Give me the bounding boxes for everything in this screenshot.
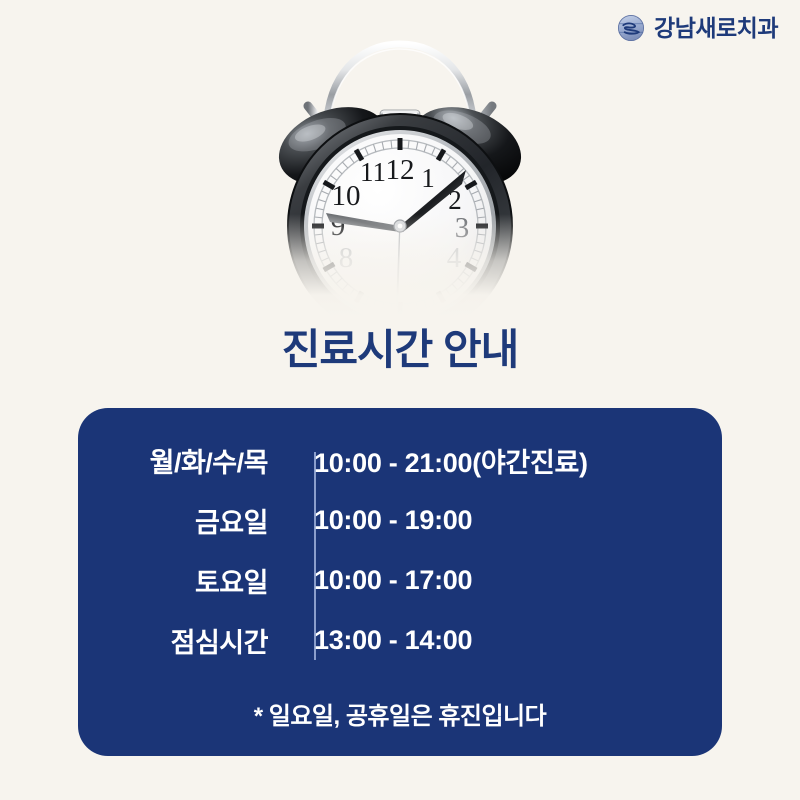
svg-text:1: 1 (421, 163, 435, 193)
hours-row-label: 월/화/수/목 (78, 441, 268, 480)
hours-row-label: 점심시간 (78, 621, 268, 660)
hours-row-value: 10:00 - 21:00(야간진료) (314, 441, 588, 480)
svg-text:3: 3 (455, 212, 470, 244)
svg-text:12: 12 (386, 154, 415, 186)
svg-text:10: 10 (332, 180, 361, 212)
globe-waves-emblem-icon (617, 14, 645, 42)
svg-text:4: 4 (447, 242, 462, 274)
hours-row-label: 금요일 (78, 501, 268, 540)
twin-bell-alarm-clock-icon: 12 1 2 3 4 11 10 9 8 (0, 18, 800, 318)
hours-row-label: 토요일 (78, 561, 268, 600)
table-row: 월/화/수/목 10:00 - 21:00(야간진료) (78, 430, 722, 490)
hours-row-value: 10:00 - 17:00 (314, 565, 472, 596)
page-title: 진료시간 안내 (0, 325, 800, 375)
business-hours-panel: 월/화/수/목 10:00 - 21:00(야간진료) 금요일 10:00 - … (78, 408, 722, 756)
table-row: 토요일 10:00 - 17:00 (78, 550, 722, 610)
brand-logo[interactable]: 강남새로치과 (617, 14, 778, 42)
brand-name: 강남새로치과 (654, 17, 778, 40)
hours-row-value: 13:00 - 14:00 (314, 625, 472, 656)
svg-text:11: 11 (360, 157, 386, 187)
table-row: 점심시간 13:00 - 14:00 (78, 610, 722, 670)
table-row: 금요일 10:00 - 19:00 (78, 490, 722, 550)
business-hours-table: 월/화/수/목 10:00 - 21:00(야간진료) 금요일 10:00 - … (78, 430, 722, 670)
svg-text:2: 2 (448, 185, 462, 215)
svg-text:9: 9 (331, 210, 346, 242)
svg-text:8: 8 (339, 242, 354, 274)
hours-row-value: 10:00 - 19:00 (314, 505, 472, 536)
closed-days-note: * 일요일, 공휴일은 휴진입니다 (78, 696, 722, 731)
